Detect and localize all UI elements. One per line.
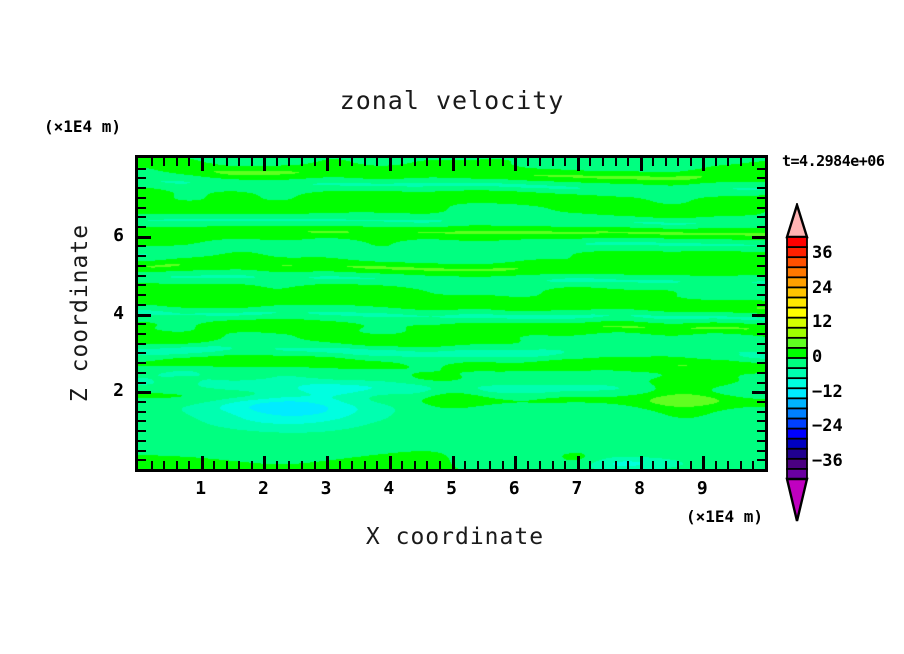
y-axis-tick-right bbox=[757, 420, 765, 422]
x-axis-tick bbox=[326, 456, 329, 469]
x-axis-tick-top bbox=[627, 158, 629, 166]
colorbar-band bbox=[787, 388, 807, 398]
x-axis-tick-top bbox=[514, 158, 517, 171]
x-axis-tick bbox=[201, 456, 204, 469]
y-axis-tick bbox=[138, 207, 146, 209]
y-axis-tick-right bbox=[757, 168, 765, 170]
x-axis-tick-top bbox=[288, 158, 290, 166]
x-axis-tick bbox=[464, 461, 466, 469]
y-axis-tick bbox=[138, 236, 151, 239]
colorbar-band bbox=[787, 287, 807, 297]
x-axis-tick-top bbox=[464, 158, 466, 166]
y-axis-tick bbox=[138, 440, 146, 442]
x-axis-tick-top bbox=[564, 158, 566, 166]
x-axis-tick bbox=[539, 461, 541, 469]
colorbar-tick-label: −24 bbox=[812, 416, 843, 436]
colorbar-band bbox=[787, 247, 807, 257]
x-axis-tick-top bbox=[702, 158, 705, 171]
y-axis-tick bbox=[138, 362, 146, 364]
x-axis-tick-top bbox=[665, 158, 667, 166]
y-axis-tick-right bbox=[752, 391, 765, 394]
x-axis-tick-top bbox=[389, 158, 392, 171]
colorbar-band bbox=[787, 398, 807, 408]
x-axis-tick bbox=[151, 461, 153, 469]
y-axis-tick bbox=[138, 255, 146, 257]
y-axis-tick-right bbox=[757, 440, 765, 442]
x-axis-tick bbox=[740, 461, 742, 469]
y-axis-tick-right bbox=[757, 459, 765, 461]
x-axis-tick bbox=[652, 461, 654, 469]
x-axis-tick bbox=[627, 461, 629, 469]
x-axis-tick-top bbox=[301, 158, 303, 166]
colorbar-band bbox=[787, 408, 807, 418]
x-axis-tick bbox=[477, 461, 479, 469]
x-axis-tick bbox=[389, 456, 392, 469]
colorbar-band bbox=[787, 328, 807, 338]
x-axis-tick-label: 8 bbox=[620, 478, 660, 499]
colorbar-band bbox=[787, 419, 807, 429]
x-axis-tick bbox=[351, 461, 353, 469]
x-axis-tick-label: 2 bbox=[243, 478, 283, 499]
x-axis-tick bbox=[263, 456, 266, 469]
x-axis-tick bbox=[314, 461, 316, 469]
colorbar-band bbox=[787, 257, 807, 267]
x-axis-tick-label: 7 bbox=[557, 478, 597, 499]
y-axis-tick bbox=[138, 343, 146, 345]
y-axis-tick-right bbox=[757, 352, 765, 354]
y-axis-tick-right bbox=[757, 275, 765, 277]
x-axis-tick bbox=[665, 461, 667, 469]
y-axis-tick-right bbox=[757, 177, 765, 179]
colorbar-tick-label: 24 bbox=[812, 278, 832, 298]
y-axis-tick-right bbox=[757, 216, 765, 218]
colorbar-swatches bbox=[780, 203, 814, 523]
x-axis-tick bbox=[602, 461, 604, 469]
x-axis-tick bbox=[702, 456, 705, 469]
x-axis-tick-top bbox=[401, 158, 403, 166]
colorbar-band bbox=[787, 378, 807, 388]
x-axis-tick-top bbox=[213, 158, 215, 166]
x-axis-tick-top bbox=[339, 158, 341, 166]
colorbar-band bbox=[787, 368, 807, 378]
x-axis-tick-top bbox=[615, 158, 617, 166]
x-axis-tick-top bbox=[201, 158, 204, 171]
colorbar-band bbox=[787, 439, 807, 449]
y-axis-tick-right bbox=[757, 207, 765, 209]
x-axis-tick bbox=[715, 461, 717, 469]
x-axis-tick-top bbox=[314, 158, 316, 166]
y-axis-tick-right bbox=[757, 323, 765, 325]
x-axis-tick bbox=[727, 461, 729, 469]
x-axis-tick bbox=[251, 461, 253, 469]
x-axis-tick bbox=[527, 461, 529, 469]
colorbar-band bbox=[787, 338, 807, 348]
x-axis-tick-label: 4 bbox=[369, 478, 409, 499]
colorbar-band bbox=[787, 449, 807, 459]
x-axis-tick-label: 3 bbox=[306, 478, 346, 499]
colorbar-band bbox=[787, 429, 807, 439]
y-axis-tick-right bbox=[757, 284, 765, 286]
x-axis-tick-top bbox=[238, 158, 240, 166]
x-axis-tick-top bbox=[376, 158, 378, 166]
y-axis-tick bbox=[138, 391, 151, 394]
x-axis-tick bbox=[238, 461, 240, 469]
y-axis-tick bbox=[138, 450, 146, 452]
y-axis-tick bbox=[138, 245, 146, 247]
colorbar-over-range-arrow bbox=[787, 205, 807, 237]
y-axis-tick-label: 4 bbox=[84, 303, 124, 324]
x-axis-tick bbox=[577, 456, 580, 469]
y-axis-tick bbox=[138, 420, 146, 422]
y-axis-tick bbox=[138, 168, 146, 170]
y-axis-tick bbox=[138, 314, 151, 317]
y-axis-tick bbox=[138, 216, 146, 218]
x-axis-tick bbox=[615, 461, 617, 469]
y-axis-tick-right bbox=[757, 372, 765, 374]
y-axis-tick bbox=[138, 284, 146, 286]
x-axis-tick-label: 6 bbox=[494, 478, 534, 499]
x-axis-tick-top bbox=[640, 158, 643, 171]
x-axis-tick-top bbox=[740, 158, 742, 166]
y-axis-tick-right bbox=[752, 314, 765, 317]
x-axis-tick bbox=[589, 461, 591, 469]
y-axis-tick-right bbox=[757, 265, 765, 267]
x-axis-tick-label: 9 bbox=[682, 478, 722, 499]
x-axis-tick-top bbox=[727, 158, 729, 166]
y-axis-tick-right bbox=[757, 226, 765, 228]
x-axis-tick bbox=[690, 461, 692, 469]
x-axis-tick-top bbox=[489, 158, 491, 166]
plot-area[interactable] bbox=[135, 155, 768, 472]
x-axis-tick bbox=[176, 461, 178, 469]
y-axis-tick-right bbox=[757, 304, 765, 306]
y-axis-tick bbox=[138, 352, 146, 354]
colorbar-tick-label: 12 bbox=[812, 312, 832, 332]
colorbar-band bbox=[787, 237, 807, 247]
y-axis-tick-label: 2 bbox=[84, 380, 124, 401]
x-axis-title: X coordinate bbox=[275, 524, 635, 550]
x-axis-tick bbox=[188, 461, 190, 469]
y-axis-tick-right bbox=[757, 362, 765, 364]
x-axis-tick-top bbox=[690, 158, 692, 166]
x-axis-tick-top bbox=[188, 158, 190, 166]
x-axis-tick-top bbox=[151, 158, 153, 166]
y-axis-tick bbox=[138, 187, 146, 189]
x-axis-tick bbox=[752, 461, 754, 469]
x-axis-tick-top bbox=[364, 158, 366, 166]
x-axis-tick-top bbox=[652, 158, 654, 166]
y-axis-tick bbox=[138, 333, 146, 335]
y-axis-tick-right bbox=[752, 236, 765, 239]
y-axis-tick bbox=[138, 382, 146, 384]
x-axis-tick-top bbox=[326, 158, 329, 171]
y-axis-tick-right bbox=[757, 245, 765, 247]
x-axis-tick bbox=[552, 461, 554, 469]
x-axis-tick-top bbox=[426, 158, 428, 166]
x-axis-tick bbox=[677, 461, 679, 469]
y-axis-tick bbox=[138, 265, 146, 267]
y-axis-tick bbox=[138, 275, 146, 277]
x-axis-tick bbox=[376, 461, 378, 469]
x-axis-tick bbox=[439, 461, 441, 469]
x-axis-tick bbox=[426, 461, 428, 469]
x-axis-tick-top bbox=[589, 158, 591, 166]
colorbar-tick-label: 0 bbox=[812, 347, 822, 367]
x-axis-tick bbox=[163, 461, 165, 469]
x-axis-tick-top bbox=[439, 158, 441, 166]
y-axis-tick bbox=[138, 304, 146, 306]
x-axis-tick bbox=[276, 461, 278, 469]
colorbar-band bbox=[787, 358, 807, 368]
x-axis-tick bbox=[414, 461, 416, 469]
x-axis-tick-top bbox=[477, 158, 479, 166]
y-axis-tick bbox=[138, 459, 146, 461]
y-axis-tick-right bbox=[757, 411, 765, 413]
x-axis-tick-top bbox=[577, 158, 580, 171]
x-axis-tick-top bbox=[539, 158, 541, 166]
x-axis-tick bbox=[489, 461, 491, 469]
x-axis-tick-top bbox=[452, 158, 455, 171]
y-axis-tick bbox=[138, 372, 146, 374]
y-axis-tick bbox=[138, 411, 146, 413]
x-axis-tick bbox=[514, 456, 517, 469]
x-axis-tick-top bbox=[351, 158, 353, 166]
x-axis-tick bbox=[364, 461, 366, 469]
colorbar-band bbox=[787, 348, 807, 358]
x-axis-tick-top bbox=[752, 158, 754, 166]
x-axis-tick bbox=[502, 461, 504, 469]
colorbar-tick-label: 36 bbox=[812, 243, 832, 263]
y-axis-tick-right bbox=[757, 333, 765, 335]
x-axis-tick bbox=[452, 456, 455, 469]
colorbar[interactable] bbox=[780, 203, 814, 523]
y-axis-tick-label: 6 bbox=[84, 225, 124, 246]
x-axis-tick-top bbox=[226, 158, 228, 166]
x-axis-tick-top bbox=[163, 158, 165, 166]
x-axis-tick-top bbox=[414, 158, 416, 166]
x-axis-tick-top bbox=[527, 158, 529, 166]
colorbar-under-range-arrow bbox=[787, 479, 807, 521]
colorbar-band bbox=[787, 267, 807, 277]
y-axis-tick bbox=[138, 197, 146, 199]
x-axis-tick-top bbox=[276, 158, 278, 166]
colorbar-tick-label: −36 bbox=[812, 451, 843, 471]
time-annotation: t=4.2984e+06 bbox=[782, 152, 884, 170]
y-axis-unit-label: (×1E4 m) bbox=[44, 117, 121, 136]
colorbar-band bbox=[787, 459, 807, 469]
y-axis-tick-right bbox=[757, 382, 765, 384]
colorbar-band bbox=[787, 308, 807, 318]
y-axis-tick-right bbox=[757, 401, 765, 403]
y-axis-tick-right bbox=[757, 430, 765, 432]
x-axis-tick-top bbox=[502, 158, 504, 166]
y-axis-tick bbox=[138, 430, 146, 432]
x-axis-unit-label: (×1E4 m) bbox=[686, 507, 763, 526]
x-axis-tick bbox=[339, 461, 341, 469]
y-axis-tick bbox=[138, 323, 146, 325]
contour-field bbox=[138, 158, 765, 469]
x-axis-tick bbox=[226, 461, 228, 469]
y-axis-tick-right bbox=[757, 197, 765, 199]
y-axis-tick-right bbox=[757, 343, 765, 345]
x-axis-tick bbox=[301, 461, 303, 469]
x-axis-tick-top bbox=[263, 158, 266, 171]
x-axis-tick bbox=[288, 461, 290, 469]
x-axis-tick bbox=[401, 461, 403, 469]
colorbar-band bbox=[787, 298, 807, 308]
colorbar-band bbox=[787, 318, 807, 328]
x-axis-tick bbox=[564, 461, 566, 469]
y-axis-tick-right bbox=[757, 294, 765, 296]
x-axis-tick bbox=[640, 456, 643, 469]
x-axis-tick-label: 1 bbox=[181, 478, 221, 499]
y-axis-tick bbox=[138, 294, 146, 296]
y-axis-tick-right bbox=[757, 255, 765, 257]
colorbar-band bbox=[787, 277, 807, 287]
x-axis-tick-top bbox=[251, 158, 253, 166]
colorbar-tick-label: −12 bbox=[812, 382, 843, 402]
x-axis-tick bbox=[213, 461, 215, 469]
y-axis-tick bbox=[138, 226, 146, 228]
x-axis-tick-top bbox=[176, 158, 178, 166]
y-axis-tick bbox=[138, 401, 146, 403]
x-axis-tick-top bbox=[715, 158, 717, 166]
y-axis-tick-right bbox=[757, 450, 765, 452]
page-title: zonal velocity bbox=[0, 86, 904, 115]
x-axis-tick-label: 5 bbox=[432, 478, 472, 499]
x-axis-tick-top bbox=[602, 158, 604, 166]
x-axis-tick-top bbox=[552, 158, 554, 166]
y-axis-tick-right bbox=[757, 187, 765, 189]
x-axis-tick-top bbox=[677, 158, 679, 166]
y-axis-tick bbox=[138, 177, 146, 179]
